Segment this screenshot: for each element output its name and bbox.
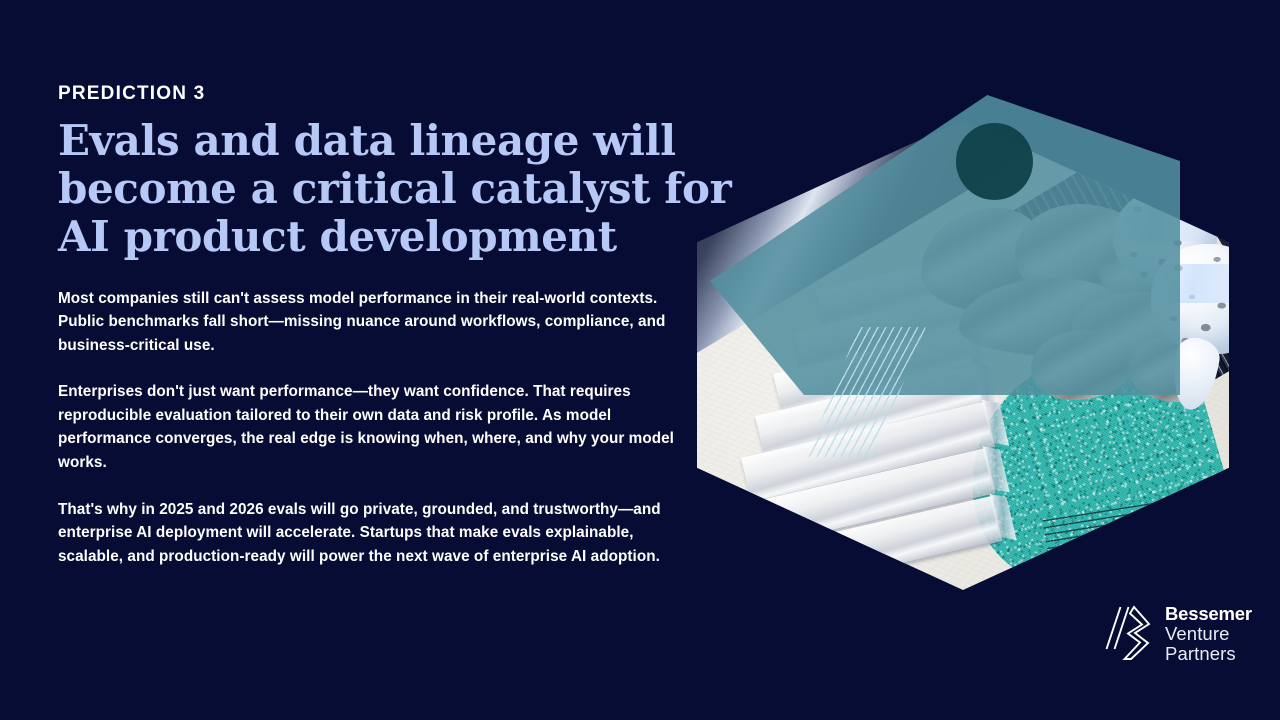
paragraph-2: Enterprises don't just want performance—… — [58, 380, 678, 474]
bessemer-chevron-icon — [1104, 605, 1154, 663]
paragraph-1: Most companies still can't assess model … — [58, 287, 678, 358]
page-title: Evals and data lineage will become a cri… — [58, 117, 738, 261]
slab-edge — [989, 494, 1016, 540]
logo-line-3: Partners — [1165, 644, 1252, 664]
logo-line-2: Venture — [1165, 624, 1252, 644]
slab-edge — [982, 400, 1009, 446]
logo-wordmark: Bessemer Venture Partners — [1165, 604, 1252, 664]
dark-teal-circle — [956, 123, 1033, 200]
hero-collage — [690, 95, 1270, 555]
logo-line-1: Bessemer — [1165, 604, 1252, 624]
slide-root: PREDICTION 3 Evals and data lineage will… — [0, 0, 1280, 720]
slab-edge — [983, 446, 1010, 492]
paragraph-3: That's why in 2025 and 2026 evals will g… — [58, 498, 678, 569]
text-column: PREDICTION 3 Evals and data lineage will… — [58, 84, 718, 568]
eyebrow-label: PREDICTION 3 — [58, 84, 718, 105]
body-copy: Most companies still can't assess model … — [58, 287, 678, 569]
teal-pentagon-overlay — [710, 95, 1180, 395]
bessemer-logo: Bessemer Venture Partners — [1104, 604, 1252, 664]
